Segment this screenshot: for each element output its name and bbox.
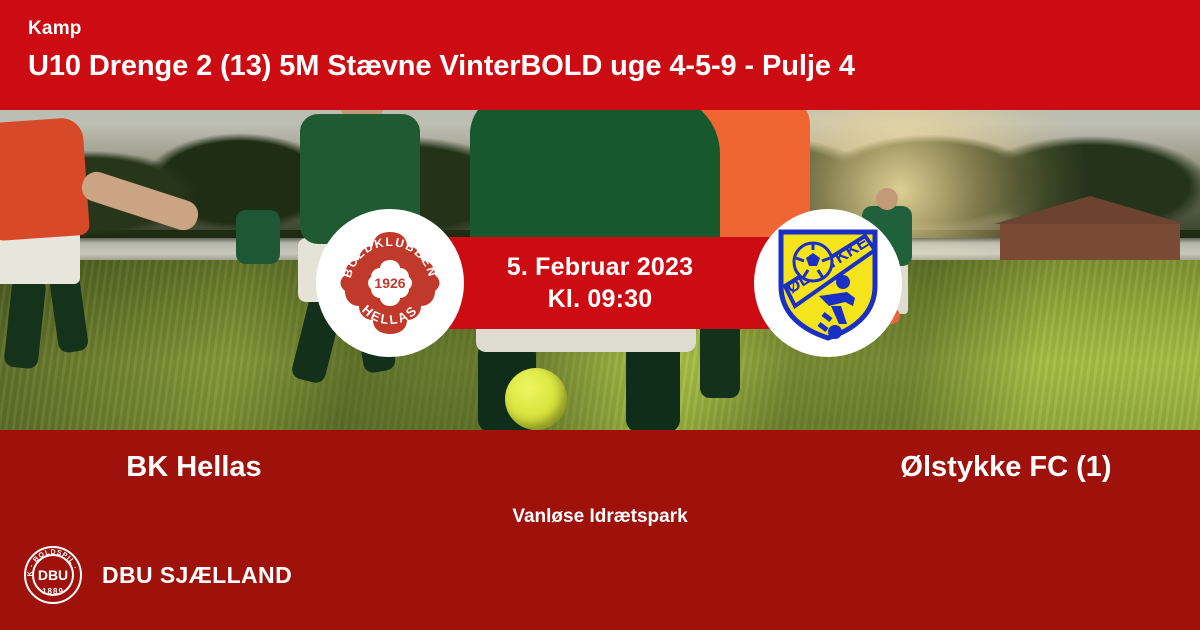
photo-player-right-head	[876, 188, 898, 210]
dbu-logo-icon: DANSK · BOLDSPIL · UNION 1889 DBU	[22, 544, 84, 606]
header-kicker: Kamp	[28, 18, 1200, 40]
organisation-name: DBU SJÆLLAND	[102, 562, 292, 589]
poster-footer: BK Hellas Ølstykke FC (1) Vanløse Idræts…	[0, 430, 1200, 630]
photo-player-a-torso	[0, 117, 90, 241]
page-title: U10 Drenge 2 (13) 5M Stævne VinterBOLD u…	[28, 46, 1200, 86]
team-names-row: BK Hellas Ølstykke FC (1)	[0, 448, 1200, 486]
photo-player-distant	[236, 210, 280, 264]
photo-match-ball	[505, 368, 567, 430]
home-team-name: BK Hellas	[0, 448, 600, 486]
svg-text:DBU: DBU	[38, 567, 68, 583]
venue-name: Vanløse Idrætspark	[0, 506, 1200, 528]
away-team-name: Ølstykke FC (1)	[600, 448, 1200, 486]
crest-football-icon	[794, 243, 832, 281]
match-time: Kl. 09:30	[548, 283, 653, 315]
olstykke-fc-crest-icon: ØLSTYKKE	[769, 220, 887, 346]
away-team-crest[interactable]: ØLSTYKKE	[754, 209, 902, 357]
bk-hellas-crest-icon: 1926 BOLDKLUBBEN HELLAS	[327, 220, 453, 346]
match-date: 5. Februar 2023	[507, 251, 693, 283]
poster-header: Kamp U10 Drenge 2 (13) 5M Stævne VinterB…	[0, 0, 1200, 110]
organisation-block: DANSK · BOLDSPIL · UNION 1889 DBU DBU SJ…	[22, 544, 292, 606]
home-team-crest[interactable]: 1926 BOLDKLUBBEN HELLAS	[316, 209, 464, 357]
svg-text:1926: 1926	[374, 275, 405, 291]
svg-text:1889: 1889	[42, 587, 64, 596]
match-date-banner: 5. Februar 2023 Kl. 09:30	[430, 237, 770, 329]
match-poster: Kamp U10 Drenge 2 (13) 5M Stævne VinterB…	[0, 0, 1200, 630]
